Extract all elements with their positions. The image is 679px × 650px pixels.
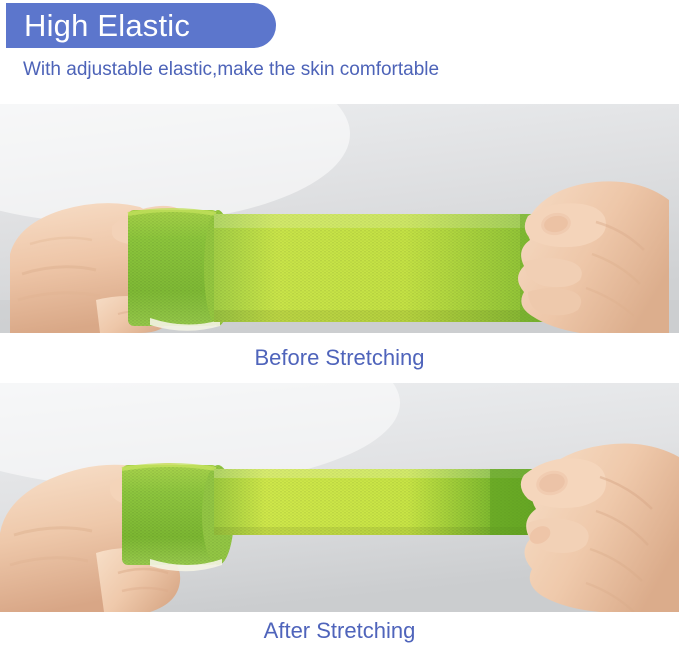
- caption-after-stretching: After Stretching: [0, 612, 679, 650]
- header-subtitle: With adjustable elastic,make the skin co…: [23, 58, 439, 82]
- title-badge-label: High Elastic: [24, 10, 190, 41]
- caption-before-stretching: Before Stretching: [0, 333, 679, 383]
- caption-after-label: After Stretching: [264, 618, 416, 644]
- after-stretching-illustration: [0, 383, 679, 612]
- before-stretching-illustration: [0, 104, 679, 333]
- right-hand: [521, 444, 679, 613]
- photo-after-stretching: [0, 383, 679, 612]
- tape-strip-stretched: [214, 469, 536, 535]
- caption-before-label: Before Stretching: [255, 345, 425, 371]
- header-block: High Elastic With adjustable elastic,mak…: [0, 0, 679, 104]
- photo-before-stretching: [0, 104, 679, 333]
- title-badge: High Elastic: [6, 3, 276, 48]
- right-hand: [518, 181, 669, 333]
- product-feature-image: High Elastic With adjustable elastic,mak…: [0, 0, 679, 650]
- tape-strip: [214, 214, 560, 322]
